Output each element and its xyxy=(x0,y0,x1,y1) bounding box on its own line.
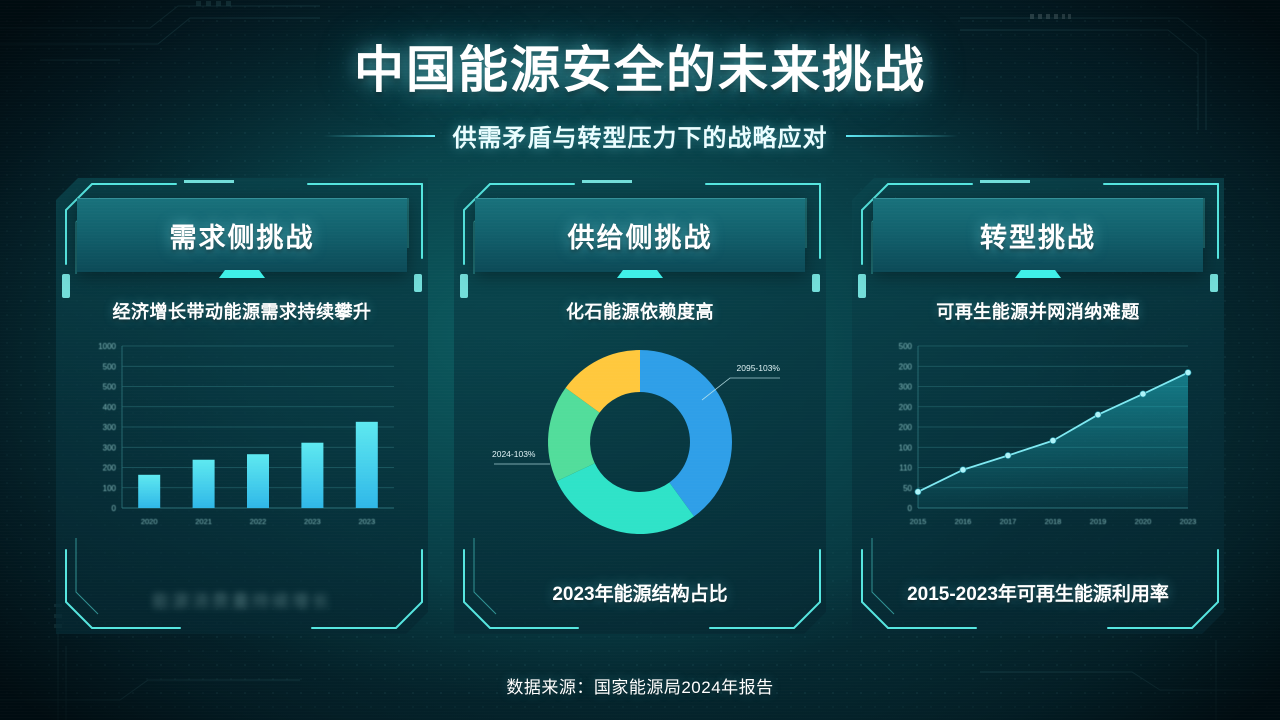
card-headline: 可再生能源并网消纳难题 xyxy=(936,298,1140,324)
svg-text:2023: 2023 xyxy=(1180,517,1197,526)
svg-text:300: 300 xyxy=(103,423,117,432)
svg-text:200: 200 xyxy=(899,403,913,412)
banner-tab-marker xyxy=(617,270,663,278)
card-banner: 供给侧挑战 xyxy=(475,198,805,272)
svg-text:500: 500 xyxy=(899,342,913,351)
subtitle-rule-right xyxy=(846,135,958,137)
card-row: 需求侧挑战 经济增长带动能源需求持续攀升 1000500500400300300… xyxy=(0,178,1280,634)
svg-text:2022: 2022 xyxy=(250,517,267,526)
slide-header: 中国能源安全的未来挑战 供需矛盾与转型压力下的战略应对 xyxy=(0,30,1280,153)
svg-text:2018: 2018 xyxy=(1045,517,1062,526)
svg-text:2019: 2019 xyxy=(1090,517,1107,526)
card-caption-blurred: 能源消费量持续增长 xyxy=(56,587,428,612)
svg-text:110: 110 xyxy=(899,464,912,473)
card-banner-title: 转型挑战 xyxy=(980,216,1096,255)
svg-text:2020: 2020 xyxy=(1135,517,1152,526)
svg-text:100: 100 xyxy=(103,484,117,493)
data-point xyxy=(1050,438,1056,444)
card-banner: 需求侧挑战 xyxy=(77,198,407,272)
card-content: 转型挑战 可再生能源并网消纳难题 50020030020020010011050… xyxy=(852,178,1224,634)
bar-chart: 1000500500400300300200100020202021202220… xyxy=(82,338,402,548)
card-supply-side-challenge[interactable]: 供给侧挑战 化石能源依赖度高 2095-103%2024-103% 2023年能… xyxy=(454,178,826,634)
card-banner-title: 需求侧挑战 xyxy=(170,216,315,255)
svg-text:300: 300 xyxy=(899,383,913,392)
svg-text:2017: 2017 xyxy=(1000,517,1017,526)
data-point xyxy=(1095,412,1101,418)
data-point xyxy=(1005,452,1011,458)
slide-canvas: 中国能源安全的未来挑战 供需矛盾与转型压力下的战略应对 xyxy=(0,0,1280,720)
subtitle-row: 供需矛盾与转型压力下的战略应对 xyxy=(0,118,1280,153)
page-subtitle: 供需矛盾与转型压力下的战略应对 xyxy=(453,118,828,153)
subtitle-rule-left xyxy=(323,135,435,137)
banner-tab-marker xyxy=(1015,270,1061,278)
svg-text:200: 200 xyxy=(899,362,913,371)
svg-text:2021: 2021 xyxy=(195,517,212,526)
svg-text:500: 500 xyxy=(103,383,117,392)
svg-text:200: 200 xyxy=(103,464,117,473)
svg-text:400: 400 xyxy=(103,403,117,412)
svg-text:0: 0 xyxy=(908,504,913,513)
svg-text:100: 100 xyxy=(899,443,913,452)
line-chart: 5002003002002001001105002015201620172018… xyxy=(878,338,1198,548)
card-headline: 化石能源依赖度高 xyxy=(566,298,714,324)
svg-text:2024-103%: 2024-103% xyxy=(492,449,536,459)
card-demand-side-challenge[interactable]: 需求侧挑战 经济增长带动能源需求持续攀升 1000500500400300300… xyxy=(56,178,428,634)
svg-text:0: 0 xyxy=(112,504,117,513)
data-point xyxy=(1185,369,1191,375)
data-point xyxy=(1140,391,1146,397)
data-point xyxy=(960,467,966,473)
page-title: 中国能源安全的未来挑战 xyxy=(0,30,1280,102)
svg-text:500: 500 xyxy=(103,362,117,371)
card-caption: 2015-2023年可再生能源利用率 xyxy=(852,579,1224,606)
card-headline: 经济增长带动能源需求持续攀升 xyxy=(113,298,372,324)
data-point xyxy=(915,489,921,495)
svg-text:2095-103%: 2095-103% xyxy=(737,363,781,373)
svg-text:200: 200 xyxy=(899,423,913,432)
svg-text:2016: 2016 xyxy=(955,517,972,526)
card-content: 供给侧挑战 化石能源依赖度高 2095-103%2024-103% 2023年能… xyxy=(454,178,826,634)
svg-text:2023: 2023 xyxy=(358,517,375,526)
svg-text:2020: 2020 xyxy=(141,517,158,526)
svg-text:300: 300 xyxy=(103,443,117,452)
svg-text:2015: 2015 xyxy=(910,517,927,526)
card-caption: 2023年能源结构占比 xyxy=(454,579,826,606)
data-source-footer: 数据来源：国家能源局2024年报告 xyxy=(0,673,1280,698)
svg-text:50: 50 xyxy=(903,484,912,493)
donut-chart: 2095-103%2024-103% xyxy=(480,338,800,558)
svg-text:2023: 2023 xyxy=(304,517,321,526)
card-banner-title: 供给侧挑战 xyxy=(568,216,713,255)
card-transition-challenge[interactable]: 转型挑战 可再生能源并网消纳难题 50020030020020010011050… xyxy=(852,178,1224,634)
slice-cyan xyxy=(557,463,694,534)
banner-tab-marker xyxy=(219,270,265,278)
card-content: 需求侧挑战 经济增长带动能源需求持续攀升 1000500500400300300… xyxy=(56,178,428,634)
svg-text:1000: 1000 xyxy=(98,342,116,351)
card-banner: 转型挑战 xyxy=(873,198,1203,272)
